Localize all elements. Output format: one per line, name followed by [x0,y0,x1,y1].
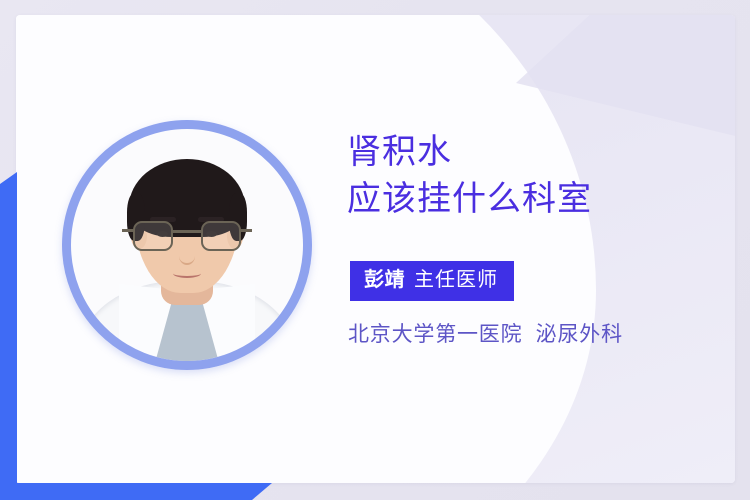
avatar [62,120,312,370]
doctor-name: 彭靖 [364,268,405,293]
page-title: 肾积水 应该挂什么科室 [347,129,727,223]
text-column: 肾积水 应该挂什么科室 彭靖 主任医师 北京大学第一医院 泌尿外科 [347,0,737,500]
doctor-name-badge: 彭靖 主任医师 [350,261,514,301]
avatar-ring [62,120,312,370]
left-accent-bar [0,172,17,500]
bottom-accent-bar [0,483,285,500]
doctor-professional-title: 主任医师 [414,268,498,293]
video-thumbnail-card: 肾积水 应该挂什么科室 彭靖 主任医师 北京大学第一医院 泌尿外科 [0,0,750,500]
doctor-affiliation: 北京大学第一医院 泌尿外科 [348,320,623,350]
